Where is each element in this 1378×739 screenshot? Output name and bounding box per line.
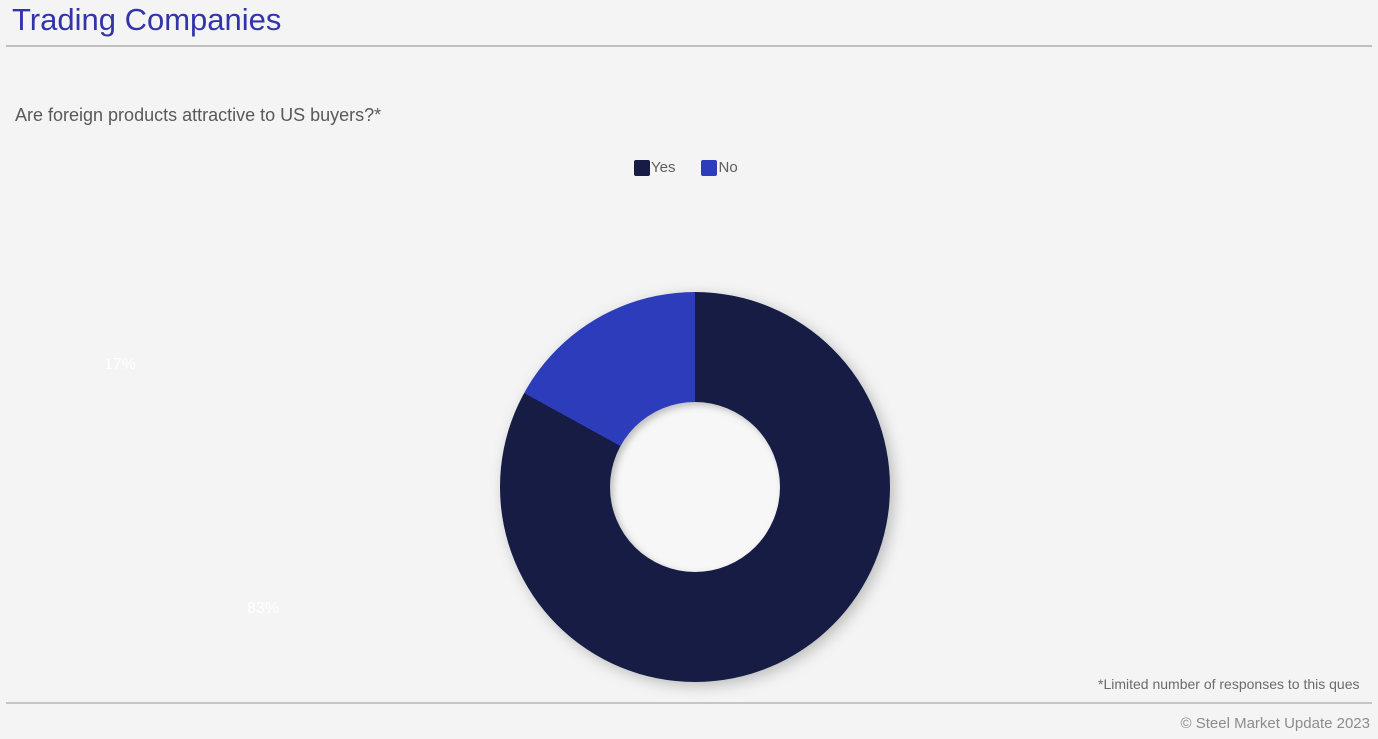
legend-swatch-no-icon — [701, 160, 717, 176]
chart-question: Are foreign products attractive to US bu… — [15, 105, 381, 126]
footer-divider — [6, 702, 1372, 704]
donut-chart — [500, 292, 890, 682]
legend-label-no: No — [718, 160, 737, 176]
slice-label-yes: 83% — [247, 600, 279, 618]
legend-swatch-yes-icon — [634, 160, 650, 176]
slice-label-no: 17% — [104, 356, 136, 374]
page-title: Trading Companies — [12, 2, 281, 38]
legend-label-yes: Yes — [651, 160, 675, 176]
donut-center-hole — [610, 402, 780, 572]
legend-item-no[interactable]: No — [701, 160, 737, 176]
chart-legend: Yes No — [634, 160, 738, 176]
copyright-notice: © Steel Market Update 2023 — [1181, 715, 1371, 732]
header-divider — [6, 45, 1372, 47]
legend-item-yes[interactable]: Yes — [634, 160, 675, 176]
chart-footnote: *Limited number of responses to this que… — [1098, 676, 1359, 692]
